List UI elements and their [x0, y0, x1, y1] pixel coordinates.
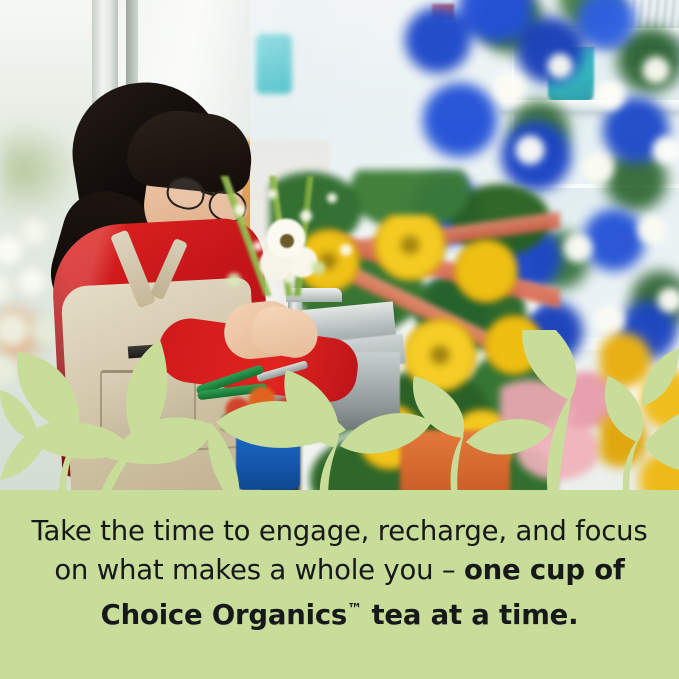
leaf-right-centre-side — [466, 419, 552, 455]
leaf-far-right-side — [644, 414, 679, 470]
leaf-right-tall — [522, 330, 576, 400]
brand-name: Choice Organics — [101, 599, 347, 631]
leaf-far-right-upper — [605, 376, 643, 442]
caption-line-3: Choice Organics™ tea at a time. — [0, 590, 679, 635]
leaf-stem-right-centre — [451, 434, 465, 498]
caption-line-2-bold: one cup of — [464, 554, 625, 586]
caption-block: Take the time to engage, recharge, and f… — [0, 512, 679, 635]
caption-line-2: on what makes a whole you – one cup of — [0, 551, 679, 590]
caption-line-3-tail: tea at a time. — [362, 599, 578, 631]
caption-line-2-plain: on what makes a whole you – — [54, 554, 464, 586]
leaf-accent-right-edge — [642, 348, 679, 406]
small-sprigs — [214, 176, 374, 306]
trademark-symbol: ™ — [347, 600, 362, 618]
caption-line-1: Take the time to engage, recharge, and f… — [0, 512, 679, 551]
advertisement-banner: Take the time to engage, recharge, and f… — [0, 0, 679, 679]
leaf-stem-right — [547, 392, 572, 498]
leaf-middle-left-sweep — [108, 417, 214, 464]
leaf-centre-upper-right — [340, 413, 432, 453]
